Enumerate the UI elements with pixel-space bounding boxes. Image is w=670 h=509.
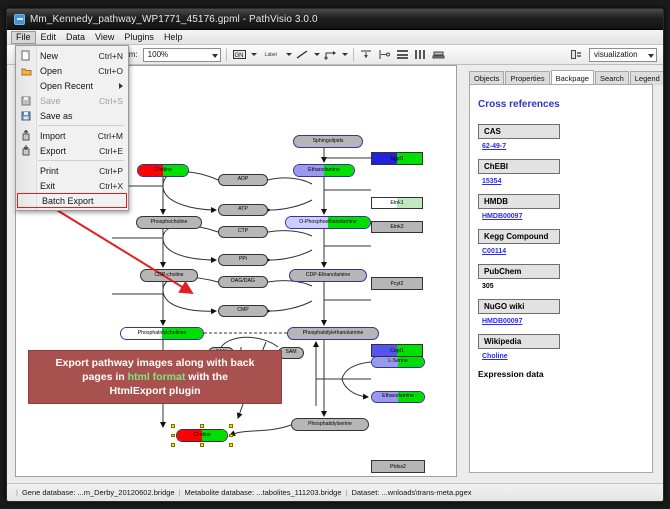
callout-line3: HtmlExport plugin [110,385,201,397]
file-menu-shortcut: Ctrl+S [99,96,128,106]
menu-help[interactable]: Help [159,31,188,44]
zoom-combo[interactable]: 100% [143,48,221,62]
distribute-horizontal-icon[interactable] [413,47,428,62]
callout-line1: Export pathway images along with back [56,357,255,369]
file-menu-item-print[interactable]: PrintCtrl+P [16,163,128,178]
title-bar: Mm_Kennedy_pathway_WP1771_45176.gpml - P… [7,9,663,30]
pathway-node-cmp[interactable]: CMP [218,305,268,317]
xref-source-chebi: ChEBI [478,159,560,174]
visualization-value: visualization [594,50,638,59]
xref-value-nugo-wiki[interactable]: HMDB00097 [482,318,644,325]
pathway-node-ctp[interactable]: CTP [218,226,268,238]
gene-node-ptdss2[interactable]: Ptdss2 [371,460,425,473]
pathway-node-cdp-choline[interactable]: CDP-choline [140,269,198,282]
toolbar-separator-2 [353,48,354,61]
tab-legend[interactable]: Legend [630,71,664,85]
import-icon [16,130,36,141]
node-label: Phosphatidylcholines [138,331,187,336]
pathway-node-o-phosphoethanolamine[interactable]: O-Phosphoethanolamine [285,216,371,229]
submenu-arrow-icon [119,83,123,89]
open-folder-icon [16,66,36,76]
file-menu-dropdown[interactable]: NewCtrl+NOpenCtrl+OOpen RecentSaveCtrl+S… [15,45,129,211]
stack-icon[interactable] [431,47,446,62]
xref-source-kegg-compound: Kegg Compound [478,229,560,244]
node-label: O-Phosphoethanolamine [299,220,356,225]
status-divider-0: | [16,488,18,497]
cross-reference-list: CAS62-49-7ChEBI15354HMDBHMDB00097Kegg Co… [478,124,644,360]
pathway-node-atp[interactable]: ATP [218,204,268,216]
gene-label: Etnk2 [390,224,403,230]
menu-bar: File Edit Data View Plugins Help [7,30,663,45]
file-menu-item-save: SaveCtrl+S [16,93,128,108]
pathway-node-phosphatidylserine[interactable]: Phosphatidylserine [291,418,369,431]
svg-text:GN: GN [234,53,243,59]
cross-references-title: Cross references [478,99,644,110]
datanode-dropdown-icon[interactable] [251,53,257,56]
pathway-node-phosphatidylcholines[interactable]: Phosphatidylcholines [120,327,204,340]
window-title: Mm_Kennedy_pathway_WP1771_45176.gpml - P… [30,14,318,25]
file-menu-item-batch-export[interactable]: Batch Export [18,194,126,207]
node-label: Sphingolipids [313,139,344,144]
menu-data[interactable]: Data [61,31,90,44]
interaction-dropdown-icon[interactable] [342,53,348,56]
backpage-content: Cross references CAS62-49-7ChEBI15354HMD… [469,84,653,473]
xref-value-hmdb[interactable]: HMDB00097 [482,213,644,220]
callout-line2-b: with the [185,371,228,383]
status-divider-2: | [345,488,347,497]
node-label: SAM [285,350,296,355]
line-dropdown-icon[interactable] [314,53,320,56]
file-menu-label: Open [36,66,98,76]
metabolite-database-value: ...tabolites_111203.bridge [256,488,341,497]
menu-edit[interactable]: Edit [36,31,62,44]
gene-database-value: ...m_Derby_20120602.bridge [77,488,174,497]
screenshot-root: Mm_Kennedy_pathway_WP1771_45176.gpml - P… [0,0,670,509]
pathvisio-icon [14,14,25,25]
callout-line2-a: pages in [82,371,128,383]
status-bar: | Gene database: ...m_Derby_20120602.bri… [7,483,663,501]
pathway-node-cdp-ethanolamine[interactable]: CDP-Ethanolamine [289,269,367,282]
node-label: Choline [193,433,211,438]
node-label: CDP-choline [154,273,183,278]
pathway-node-phosphatidylethanolamine[interactable]: Phosphatidylethanolamine [287,327,379,340]
node-label: Ethanolamine [382,394,414,399]
node-label: Phosphatidylserine [308,422,352,427]
annotation-callout: Export pathway images along with back pa… [28,350,282,404]
gene-label: Sgpl1 [390,156,403,162]
zoom-value: 100% [148,50,168,59]
file-menu-label: Exit [36,181,99,191]
pathway-node-sphingolipids[interactable]: Sphingolipids [293,135,363,148]
pathway-node-adp[interactable]: ADP [218,174,268,186]
node-label: DAG/DAG [231,279,255,284]
xref-source-hmdb: HMDB [478,194,560,209]
dataset-value: ...wnloads\trans-meta.pgex [381,488,471,497]
gene-label: Cept1 [390,348,404,354]
file-menu-label: Import [36,131,98,141]
file-menu-item-import[interactable]: ImportCtrl+M [16,128,128,143]
toolbar-separator [226,48,227,61]
new-document-icon [16,50,36,61]
tab-objects[interactable]: Objects [469,71,504,85]
pathway-node-l-serine[interactable]: L-Serine [371,356,425,368]
node-label: Phosphocholine [151,220,188,225]
expression-data-title: Expression data [478,369,644,379]
file-menu-separator [38,125,124,126]
metabolite-database-label: Metabolite database: [185,488,255,497]
status-divider-1: | [179,488,181,497]
label-icon[interactable]: Label [260,47,282,62]
distribute-vertical-icon[interactable] [395,47,410,62]
pathway-node-ethanolamine-right[interactable]: Ethanolamine [371,391,425,403]
align-left-icon[interactable] [377,47,392,62]
pathway-node-phosphocholine[interactable]: Phosphocholine [136,216,202,229]
file-menu-label: Print [36,166,99,176]
file-menu-shortcut: Ctrl+E [99,146,128,156]
file-menu-item-open-recent[interactable]: Open Recent [16,78,128,93]
file-menu-label: New [36,51,99,61]
pathway-node-ethanolamine-top[interactable]: Ethanolamine [293,164,355,177]
visualization-combo[interactable]: visualization [589,48,657,62]
file-menu-shortcut: Ctrl+O [98,66,128,76]
node-label: ATP [238,207,248,212]
xref-source-wikipedia: Wikipedia [478,334,560,349]
xref-value-cas[interactable]: 62-49-7 [482,143,644,150]
file-menu-item-new[interactable]: NewCtrl+N [16,48,128,63]
file-menu-item-exit[interactable]: ExitCtrl+X [16,178,128,193]
line-icon[interactable] [295,47,310,62]
file-menu-item-open[interactable]: OpenCtrl+O [16,63,128,78]
pathway-node-choline-bottom[interactable]: Choline [176,429,228,442]
node-label: Phosphatidylethanolamine [303,331,364,336]
node-label: Choline [154,168,172,173]
application-window: Mm_Kennedy_pathway_WP1771_45176.gpml - P… [6,8,664,502]
gene-node-pcyt2[interactable]: Pcyt2 [371,277,423,290]
file-menu-item-export[interactable]: ExportCtrl+E [16,143,128,158]
gene-label: Ptdss2 [390,464,406,470]
xref-value-kegg-compound[interactable]: C00114 [482,248,644,255]
xref-source-nugo-wiki: NuGO wiki [478,299,560,314]
visualization-settings-icon[interactable] [569,47,584,62]
chevron-down-icon-2 [648,54,654,58]
gene-node-cept1[interactable]: Cept1 [371,344,423,357]
panel-tab-strip: Objects Properties Backpage Search Legen… [469,70,657,85]
file-menu-label: Save as [36,111,123,121]
xref-value-pubchem: 305 [482,283,644,290]
node-label: L-Serine [388,359,408,364]
node-label: CDP-Ethanolamine [306,273,350,278]
tab-properties[interactable]: Properties [505,71,549,85]
pathway-node-choline-top[interactable]: Choline [137,164,189,177]
interaction-icon[interactable] [323,47,338,62]
gene-database-label: Gene database: [22,488,75,497]
gene-node-etnk2[interactable]: Etnk2 [371,221,423,233]
datanode-icon[interactable]: GN [232,47,247,62]
callout-highlight: html format [128,371,186,383]
side-panel: Objects Properties Backpage Search Legen… [463,65,657,477]
file-menu-label: Export [36,146,99,156]
node-label: CTP [238,229,248,234]
chevron-down-icon [212,54,218,58]
gene-node-etnk1[interactable]: Etnk1 [371,197,423,209]
menu-view[interactable]: View [90,31,119,44]
file-menu-shortcut: Ctrl+N [99,51,128,61]
node-label: PPi [239,257,247,262]
xref-value-wikipedia[interactable]: Choline [482,353,644,360]
label-dropdown-icon[interactable] [286,53,292,56]
file-menu-label: Open Recent [36,81,119,91]
export-icon [16,145,36,156]
save-disk-icon [16,96,36,106]
save-as-icon [16,111,36,121]
align-top-icon[interactable] [359,47,374,62]
node-label: Ethanolamine [308,168,340,173]
menu-plugins[interactable]: Plugins [119,31,159,44]
node-label: ADP [238,177,249,182]
pathway-node-dag-dag[interactable]: DAG/DAG [218,276,268,288]
file-menu-separator [38,160,124,161]
xref-value-chebi[interactable]: 15354 [482,178,644,185]
dataset-label: Dataset: [351,488,379,497]
node-label: CMP [237,308,249,313]
file-menu-label: Batch Export [38,196,121,206]
file-menu-shortcut: Ctrl+P [99,166,128,176]
file-menu-shortcut: Ctrl+M [98,131,128,141]
pathway-node-ppi[interactable]: PPi [218,254,268,266]
tab-backpage[interactable]: Backpage [551,70,594,85]
gene-label: Etnk1 [390,200,403,206]
file-menu-shortcut: Ctrl+X [99,181,128,191]
file-menu-label: Save [36,96,99,106]
file-menu-item-save-as[interactable]: Save as [16,108,128,123]
menu-file[interactable]: File [11,31,36,44]
gene-node-sgpl1[interactable]: Sgpl1 [371,152,423,165]
tab-search[interactable]: Search [595,71,629,85]
gene-label: Pcyt2 [391,281,404,287]
xref-source-pubchem: PubChem [478,264,560,279]
xref-source-cas: CAS [478,124,560,139]
